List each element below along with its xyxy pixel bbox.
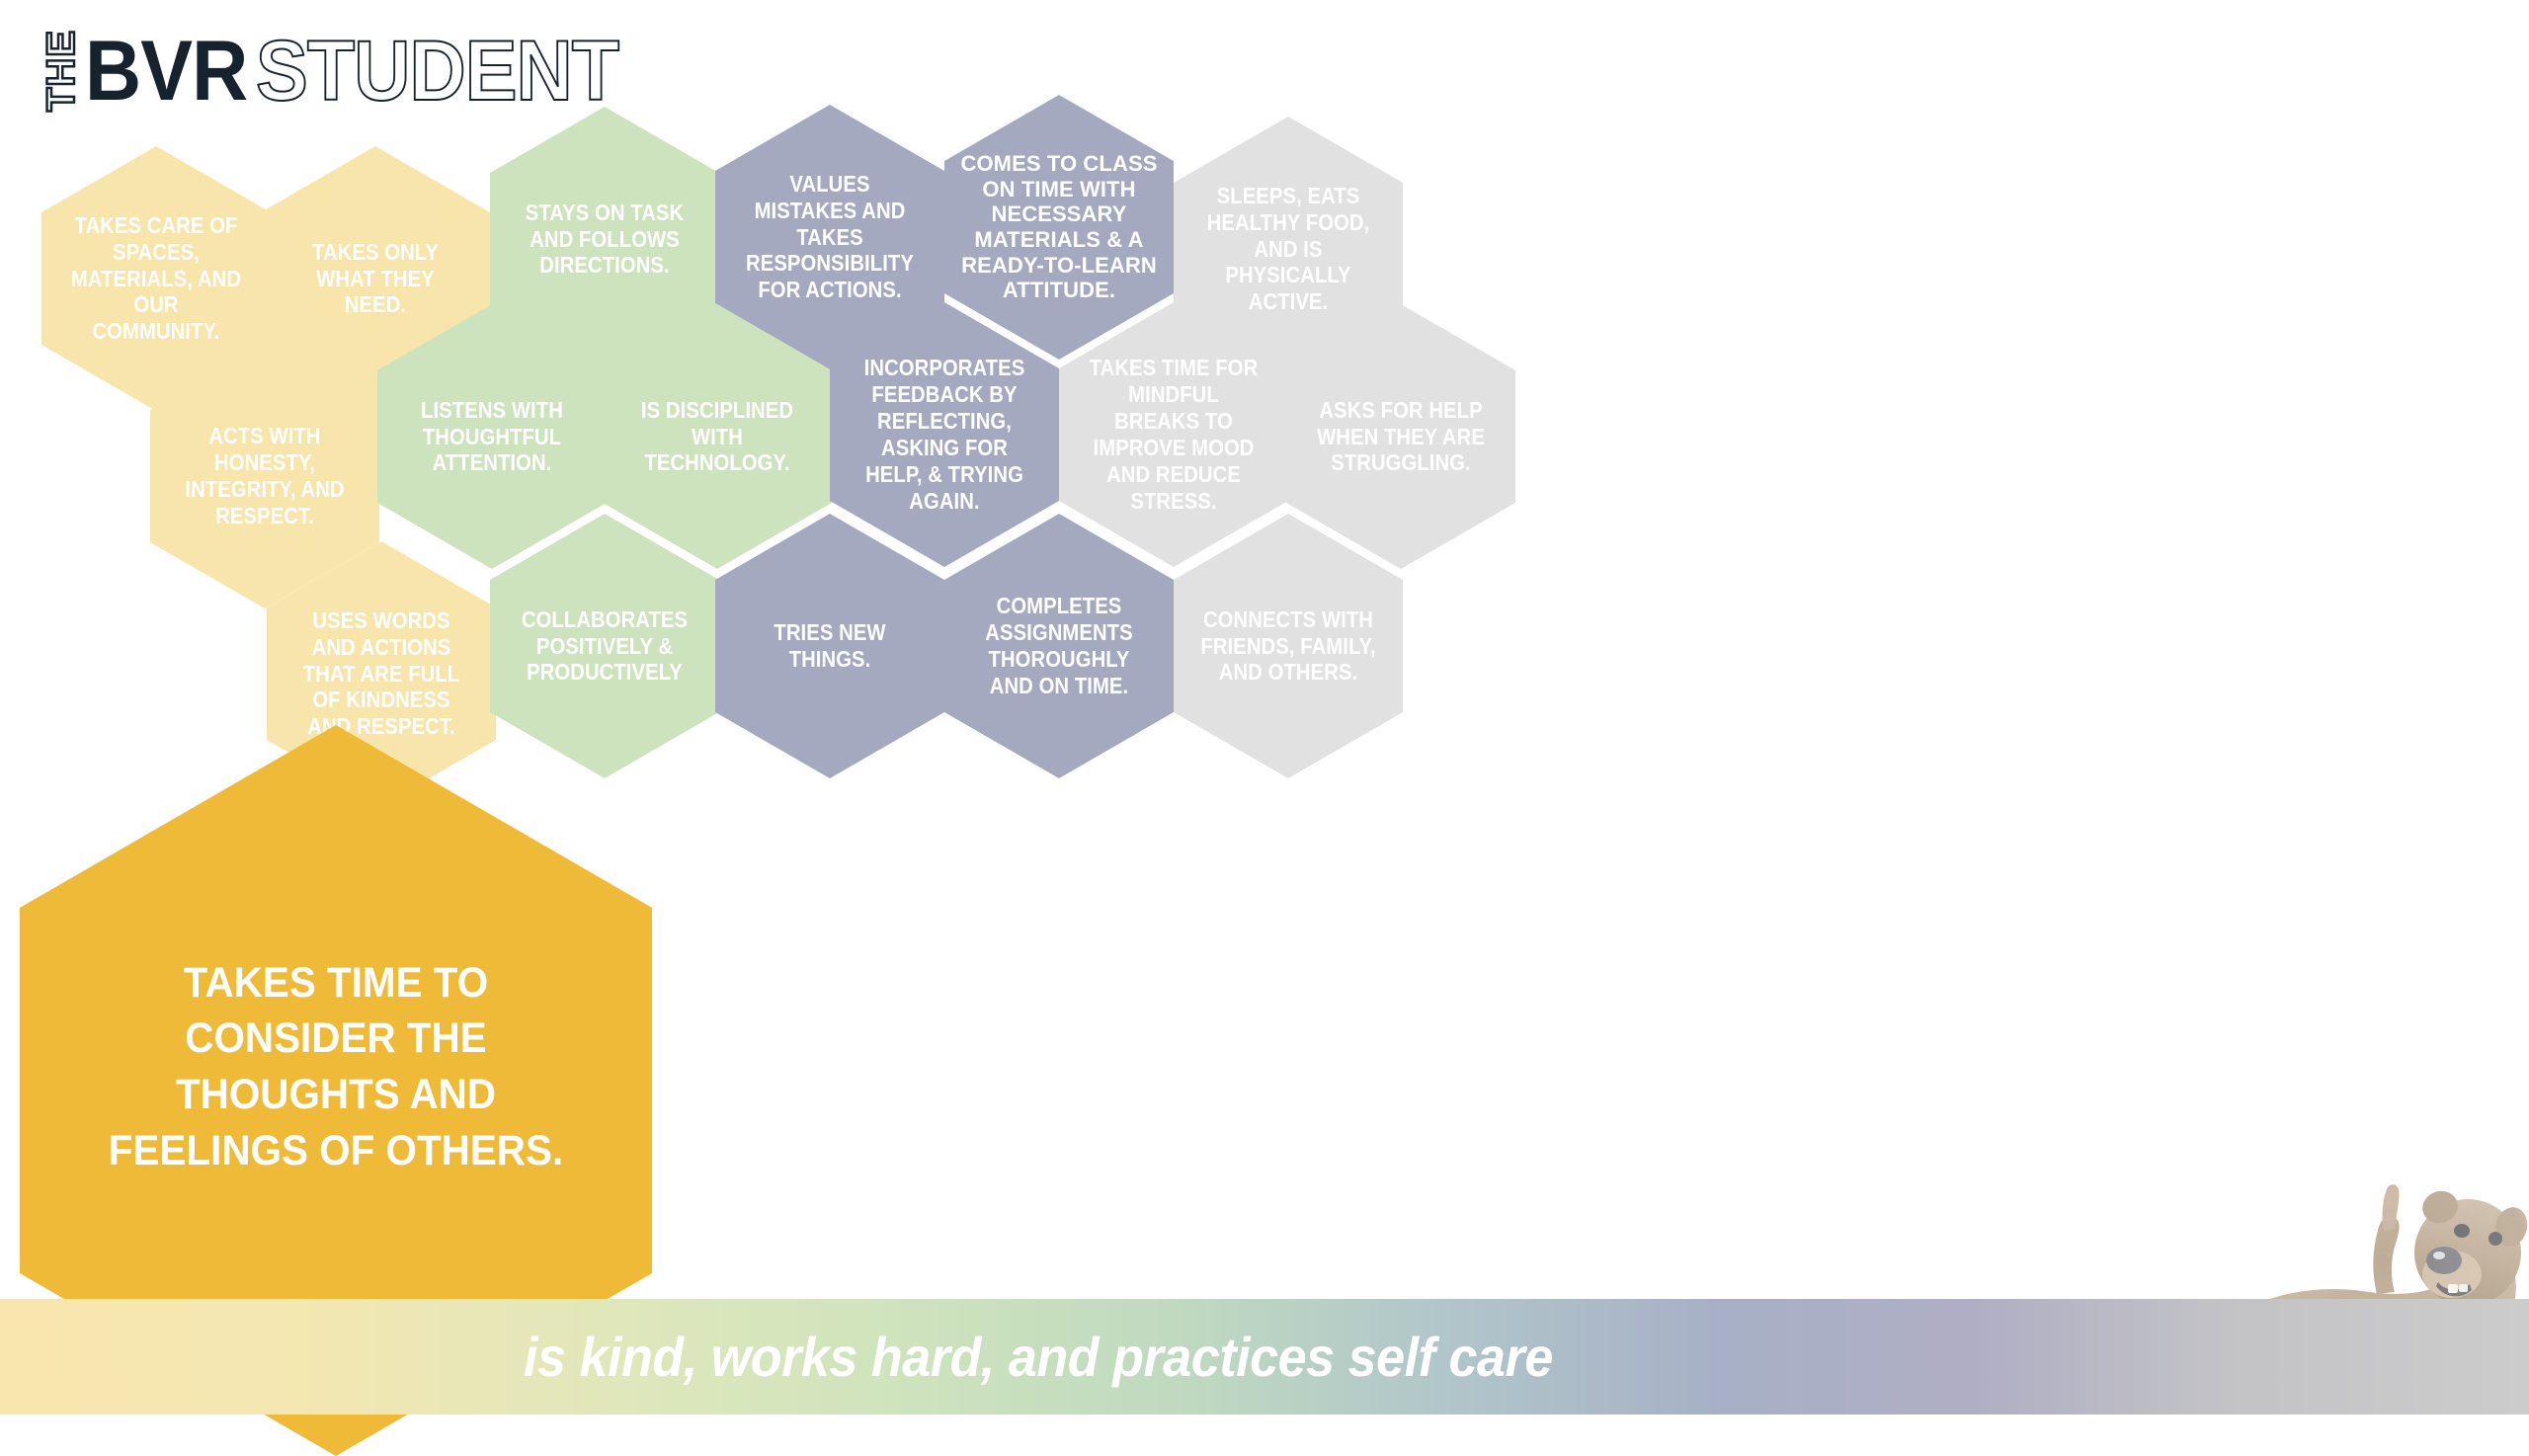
brand-logo: THE BVR STUDENT bbox=[41, 22, 650, 113]
hexagon-tile[interactable]: COMES TO CLASS ON TIME WITH NECESSARY MA… bbox=[944, 95, 1174, 360]
hexagon-tile-label: TRIES NEW THINGS. bbox=[741, 619, 919, 673]
logo-word-student: STUDENT bbox=[256, 32, 618, 113]
hexagon-tile-label: ASKS FOR HELP WHEN THEY ARE STRUGGLING. bbox=[1312, 397, 1490, 477]
hexagon-tile-label: TAKES CARE OF SPACES, MATERIALS, AND OUR… bbox=[67, 212, 245, 346]
bottom-banner: is kind, works hard, and practices self … bbox=[0, 1299, 2529, 1415]
hexagon-tile-label: COMES TO CLASS ON TIME WITH NECESSARY MA… bbox=[958, 151, 1160, 303]
hexagon-tile-label: COMPLETES ASSIGNMENTS THOROUGHLY AND ON … bbox=[970, 593, 1148, 699]
banner-tagline: is kind, works hard, and practices self … bbox=[524, 1325, 1553, 1389]
hexagon-tile[interactable]: TRIES NEW THINGS. bbox=[715, 514, 944, 778]
hexagon-tile-label: TAKES ONLY WHAT THEY NEED. bbox=[286, 239, 464, 319]
hexagon-tile[interactable]: COMPLETES ASSIGNMENTS THOROUGHLY AND ON … bbox=[944, 514, 1174, 778]
feature-hexagon-label: TAKES TIME TO CONSIDER THE THOUGHTS AND … bbox=[81, 955, 590, 1179]
hexagon-tile-label: INCORPORATES FEEDBACK BY REFLECTING, ASK… bbox=[856, 355, 1033, 514]
hexagon-tile-label: CONNECTS WITH FRIENDS, FAMILY, AND OTHER… bbox=[1199, 607, 1377, 687]
hexagon-tile-label: COLLABORATES POSITIVELY & PRODUCTIVELY bbox=[516, 607, 693, 687]
hexagon-tile-label: SLEEPS, EATS HEALTHY FOOD, AND IS PHYSIC… bbox=[1199, 183, 1377, 316]
logo-word-the: THE bbox=[41, 30, 81, 113]
hexagon-tile-label: STAYS ON TASK AND FOLLOWS DIRECTIONS. bbox=[516, 200, 693, 280]
hexagon-tile-label: LISTENS WITH THOUGHTFUL ATTENTION. bbox=[403, 397, 581, 477]
hexagon-tile-label: ACTS WITH HONESTY, INTEGRITY, AND RESPEC… bbox=[176, 423, 354, 529]
hexagon-tile[interactable]: COLLABORATES POSITIVELY & PRODUCTIVELY bbox=[490, 514, 719, 778]
logo-word-bvr: BVR bbox=[85, 32, 247, 113]
hexagon-tile-label: IS DISCIPLINED WITH TECHNOLOGY. bbox=[628, 397, 806, 477]
hexagon-tile-label: USES WORDS AND ACTIONS THAT ARE FULL OF … bbox=[292, 607, 470, 741]
hexagon-tile-label: VALUES MISTAKES AND TAKES RESPONSIBILITY… bbox=[741, 171, 919, 304]
hexagon-tile[interactable]: CONNECTS WITH FRIENDS, FAMILY, AND OTHER… bbox=[1174, 514, 1403, 778]
hexagon-tile-label: TAKES TIME FOR MINDFUL BREAKS TO IMPROVE… bbox=[1085, 355, 1263, 514]
